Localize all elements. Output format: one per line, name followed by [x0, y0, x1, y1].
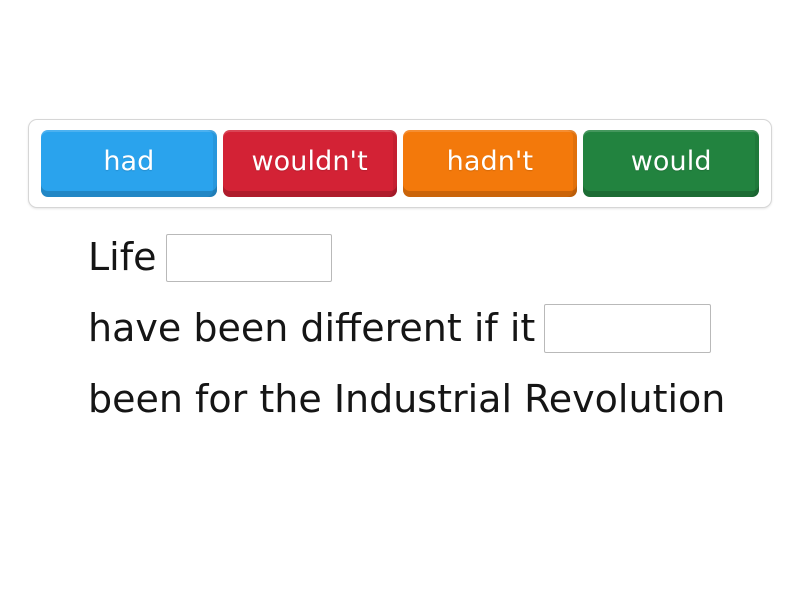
word-tile-label: had	[103, 148, 154, 175]
word-tile-would[interactable]: would	[583, 130, 759, 197]
word-tile-wouldnt[interactable]: wouldn't	[223, 130, 397, 197]
word-tile-label: would	[631, 148, 712, 175]
word-tile-label: hadn't	[447, 148, 534, 175]
blank-drop-target-2[interactable]	[544, 304, 711, 353]
sentence-text-part-1: Life	[88, 235, 157, 279]
word-tile-hadnt[interactable]: hadn't	[403, 130, 578, 197]
sentence-text-part-3: been for the Industrial Revolution	[88, 377, 725, 421]
word-tile-tray: had wouldn't hadn't would	[28, 119, 772, 208]
sentence-text-part-2: have been different if it	[88, 306, 535, 350]
word-tile-had[interactable]: had	[41, 130, 217, 197]
fill-in-the-blanks-activity: had wouldn't hadn't would Lifehave been …	[0, 0, 800, 600]
word-tile-label: wouldn't	[251, 148, 367, 175]
sentence-with-blanks: Lifehave been different if itbeen for th…	[88, 222, 728, 435]
blank-drop-target-1[interactable]	[166, 234, 332, 282]
